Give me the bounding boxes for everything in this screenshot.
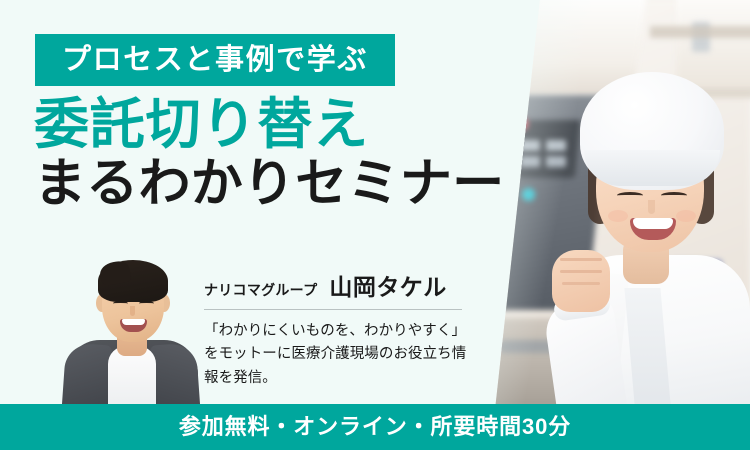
- staff-cap-band: [584, 150, 720, 186]
- staff-cheek-left: [608, 210, 628, 222]
- machine-indicator-red: [516, 118, 528, 130]
- staff-teeth: [633, 218, 673, 229]
- staff-cheek-right: [676, 210, 696, 222]
- staff-knuckle: [560, 270, 602, 273]
- speaker-jacket-right: [150, 342, 200, 404]
- speaker-name: 山岡タケル: [329, 268, 446, 302]
- speaker-identity: ナリコマグループ 山岡タケル: [204, 268, 474, 302]
- seminar-banner: プロセスと事例で学ぶ 委託切り替え まるわかりセミナー ナリコマグループ 山岡タ…: [0, 0, 750, 450]
- machine-key: [546, 156, 566, 167]
- kitchen-cabinet: [676, 0, 750, 90]
- page-title: 委託切り替え まるわかりセミナー: [34, 96, 504, 213]
- staff-photo-scene: [480, 0, 750, 410]
- speaker-divider: [204, 309, 462, 310]
- staff-photo: [480, 0, 750, 410]
- staff-knuckle: [560, 258, 602, 261]
- machine-key: [520, 156, 540, 167]
- machine-indicator-cyan: [522, 188, 535, 201]
- event-details-bar: 参加無料・オンライン・所要時間30分: [0, 404, 750, 450]
- speaker-teeth: [122, 319, 145, 325]
- speaker-description: 「わかりにくいものを、わかりやすく」をモットーに医療介護現場のお役立ち情報を発信…: [204, 320, 474, 390]
- staff-eye-left: [617, 192, 643, 199]
- machine-key: [546, 140, 566, 151]
- speaker-nose: [130, 306, 135, 316]
- staff-eye-right: [661, 192, 687, 199]
- headline-line-1: 委託切り替え: [34, 96, 504, 154]
- machine-panel: [501, 120, 581, 178]
- speaker-jacket-left: [62, 342, 112, 404]
- kitchen-shelf-upper: [650, 26, 750, 38]
- staff-nose: [648, 200, 655, 214]
- staff-knuckle: [562, 282, 600, 285]
- eyebrow-label: プロセスと事例で学ぶ: [35, 34, 395, 86]
- speaker-info: ナリコマグループ 山岡タケル 「わかりにくいものを、わかりやすく」をモットーに医…: [204, 268, 474, 390]
- eyebrow-label-text: プロセスと事例で学ぶ: [62, 46, 368, 75]
- machine-key: [520, 140, 540, 151]
- headline-line-2: まるわかりセミナー: [34, 156, 504, 213]
- speaker-company: ナリコマグループ: [204, 280, 317, 300]
- speaker-portrait: [60, 248, 200, 404]
- event-details-text: 参加無料・オンライン・所要時間30分: [179, 416, 571, 438]
